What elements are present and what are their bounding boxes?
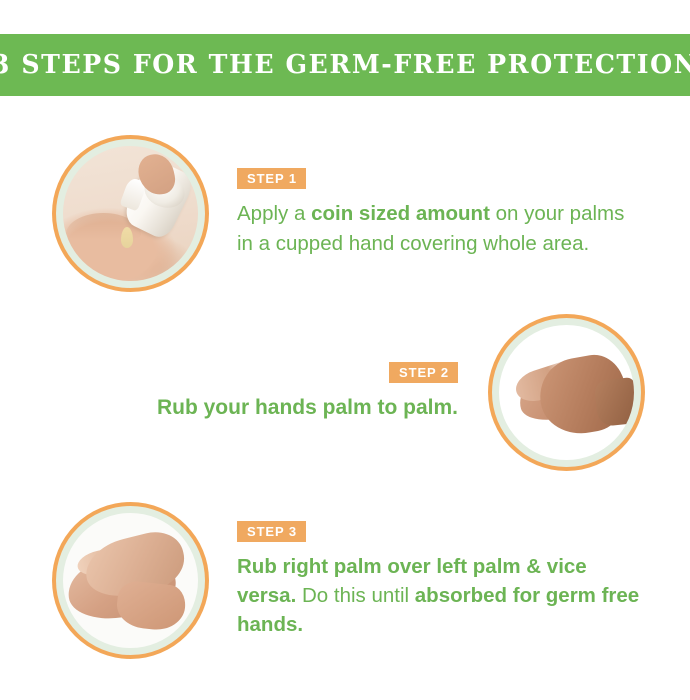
step-2-badge: STEP 2 (389, 362, 458, 383)
step-1-image-circle (52, 135, 209, 292)
header-banner: 3 Steps for the Germ-Free Protection (0, 34, 690, 96)
step-row-2: STEP 2 Rub your hands palm to palm. (0, 305, 690, 480)
step-1-badge: STEP 1 (237, 168, 306, 189)
step-3-description: Rub right palm over left palm & vice ver… (237, 552, 640, 639)
step-3-photo-rubbing-hands (63, 513, 198, 648)
step-row-1: STEP 1 Apply a coin sized amount on your… (0, 128, 690, 298)
page-title: 3 Steps for the Germ-Free Protection (0, 52, 690, 78)
step-1-description: Apply a coin sized amount on your palms … (237, 199, 630, 257)
step-1-inner-ring (56, 139, 205, 288)
wrist-shape (594, 377, 634, 427)
step-3-badge: STEP 3 (237, 521, 306, 542)
step-1-text-block: STEP 1 Apply a coin sized amount on your… (237, 168, 690, 257)
lower-fingers-shape (115, 579, 187, 632)
step-3-text-block: STEP 3 Rub right palm over left palm & v… (237, 521, 690, 639)
step-2-photo-palm-to-palm (499, 325, 634, 460)
step-3-image-circle (52, 502, 209, 659)
step-2-text-block: STEP 2 Rub your hands palm to palm. (0, 362, 488, 423)
step-3-inner-ring (56, 506, 205, 655)
step-1-photo-pump-bottle (63, 146, 198, 281)
step-2-image-circle (488, 314, 645, 471)
step-2-inner-ring (492, 318, 641, 467)
step-row-3: STEP 3 Rub right palm over left palm & v… (0, 490, 690, 670)
step-2-description: Rub your hands palm to palm. (40, 393, 458, 423)
